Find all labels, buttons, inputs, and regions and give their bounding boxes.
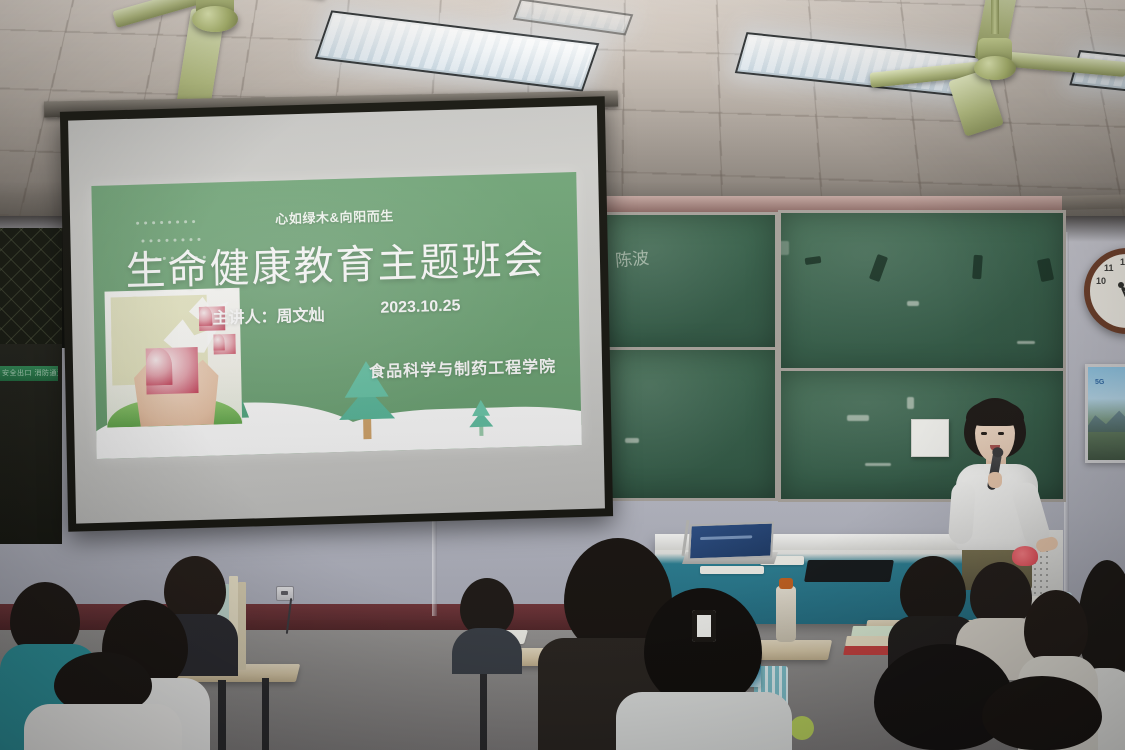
ceiling-fan	[878, 2, 1125, 122]
blackboard-panel: 陈波	[594, 212, 778, 356]
clock-number: 12	[1120, 257, 1125, 267]
classroom-photo-scene: 安全出口 消防通道 陈波 12 1 2 3 4 10 11	[0, 0, 1125, 750]
student	[962, 676, 1125, 750]
presenter-mic-hand	[988, 472, 1002, 488]
presenter-bangs	[966, 400, 1024, 426]
console-cable-hole	[804, 560, 894, 582]
window-grille	[0, 228, 65, 348]
hair-clip	[692, 610, 716, 642]
student-with-hairclip	[616, 588, 792, 750]
presenter-left-arm	[948, 481, 976, 545]
clock-minute-hand	[1121, 288, 1125, 313]
blackboard-panel	[778, 210, 1066, 376]
console-papers	[700, 566, 764, 574]
slide-presenter: 主讲人：周文灿	[212, 301, 324, 328]
wall-poster: 5G	[1085, 364, 1125, 463]
book-stack-item	[238, 582, 246, 670]
slide-department: 食品科学与制药工程学院	[369, 353, 556, 382]
slide-tree-small	[469, 400, 494, 437]
blackboard-panel	[594, 347, 778, 501]
laptop-screen[interactable]	[688, 522, 774, 561]
clock-number: 10	[1096, 276, 1106, 286]
red-heart-tiny	[213, 334, 235, 355]
red-heart-main	[146, 347, 199, 394]
slide-date: 2023.10.25	[380, 297, 461, 323]
student	[24, 652, 182, 750]
projection-screen[interactable]: 心如绿木&向阳而生 生命健康教育主题班会 主讲人：周文灿 2023.10.25 …	[60, 96, 613, 532]
presentation-slide: 心如绿木&向阳而生 生命健康教育主题班会 主讲人：周文灿 2023.10.25 …	[91, 172, 581, 459]
projection-screen-surface: 心如绿木&向阳而生 生命健康教育主题班会 主讲人：周文灿 2023.10.25 …	[68, 105, 605, 523]
exit-sign-text: 安全出口 消防通道	[0, 366, 58, 381]
clock-number: 11	[1104, 263, 1114, 273]
green-ball	[790, 716, 814, 740]
student	[452, 578, 522, 674]
poster-logo: 5G	[1095, 379, 1104, 386]
chalk-note: 陈波	[614, 244, 650, 272]
exit-sign: 安全出口 消防通道	[0, 366, 58, 381]
